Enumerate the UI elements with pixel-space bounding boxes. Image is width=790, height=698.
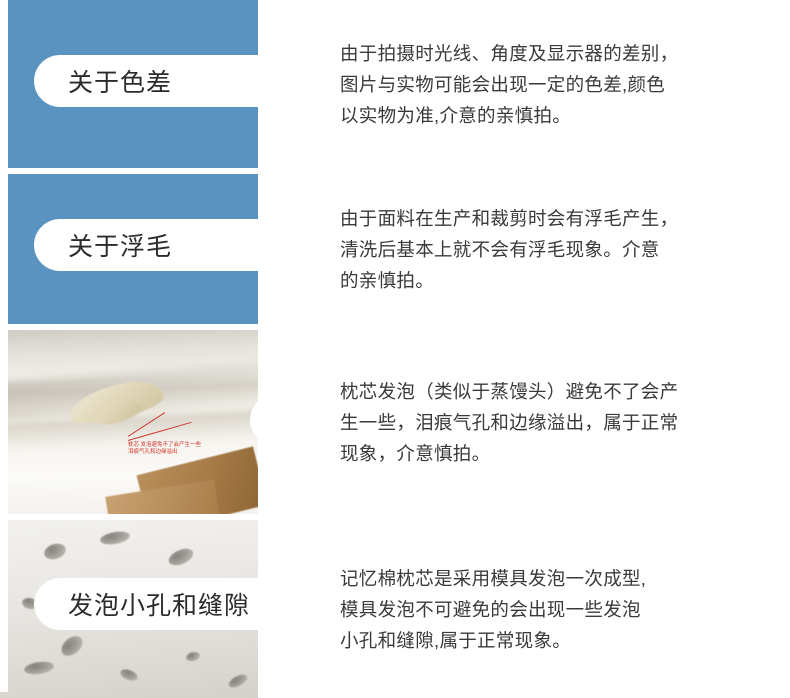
pore-mark — [99, 529, 131, 546]
section-3-body: 枕芯发泡（类似于蒸馒头）避免不了会产 生一些，泪痕气孔和边缘溢出，属于正常 现象… — [340, 376, 678, 469]
foam-photo-annotation: 枕芯 发泡避免不了会产生一些 泪痕气孔和边缘溢出 — [128, 442, 206, 456]
section-4-title-pill: 发泡小孔和缝隙 — [34, 578, 258, 630]
section-3-left-panel: 枕芯 发泡避免不了会产生一些 泪痕气孔和边缘溢出 — [0, 330, 258, 514]
section-3-right-panel: 枕芯发泡（类似于蒸馒头）避免不了会产 生一些，泪痕气孔和边缘溢出，属于正常 现象… — [258, 330, 790, 514]
section-foam-pores-gaps: 发泡小孔和缝隙 记忆棉枕芯是采用模具发泡一次成型, 模具发泡不可避免的会出现一些… — [0, 520, 790, 698]
section-foam-overflow: 枕芯 发泡避免不了会产生一些 泪痕气孔和边缘溢出 枕芯发泡（类似于蒸馒头）避免不… — [0, 330, 790, 514]
pore-mark — [227, 672, 249, 690]
pore-mark — [58, 632, 87, 660]
section-1-title: 关于色差 — [68, 63, 172, 99]
section-4-title: 发泡小孔和缝隙 — [68, 586, 250, 622]
pore-mark — [42, 541, 68, 562]
section-color-difference: 关于色差 由于拍摄时光线、角度及显示器的差别， 图片与实物可能会出现一定的色差,… — [0, 0, 790, 168]
section-1-body: 由于拍摄时光线、角度及显示器的差别， 图片与实物可能会出现一定的色差,颜色 以实… — [340, 38, 678, 131]
section-1-title-pill: 关于色差 — [34, 55, 258, 107]
section-2-left-panel: 关于浮毛 — [0, 174, 258, 324]
section-2-title-pill: 关于浮毛 — [34, 219, 258, 271]
pore-mark — [119, 667, 139, 683]
product-detail-page: 关于色差 由于拍摄时光线、角度及显示器的差别， 图片与实物可能会出现一定的色差,… — [0, 0, 790, 692]
pore-mark — [23, 660, 54, 676]
foam-overflow-photo: 枕芯 发泡避免不了会产生一些 泪痕气孔和边缘溢出 — [0, 330, 258, 514]
section-floating-lint: 关于浮毛 由于面料在生产和裁剪时会有浮毛产生， 清洗后基本上就不会有浮毛现象。介… — [0, 174, 790, 324]
section-2-right-panel: 由于面料在生产和裁剪时会有浮毛产生， 清洗后基本上就不会有浮毛现象。介意 的亲慎… — [258, 174, 790, 324]
pore-mark — [166, 545, 195, 568]
section-1-left-panel: 关于色差 — [0, 0, 258, 168]
left-white-margin — [0, 0, 8, 692]
section-4-body: 记忆棉枕芯是采用模具发泡一次成型, 模具发泡不可避免的会出现一些发泡 小孔和缝隙… — [340, 563, 646, 656]
section-2-title: 关于浮毛 — [68, 227, 172, 263]
section-1-right-panel: 由于拍摄时光线、角度及显示器的差别， 图片与实物可能会出现一定的色差,颜色 以实… — [258, 0, 790, 168]
section-4-left-panel: 发泡小孔和缝隙 — [0, 520, 258, 698]
pore-mark — [185, 650, 201, 662]
section-2-body: 由于面料在生产和裁剪时会有浮毛产生， 清洗后基本上就不会有浮毛现象。介意 的亲慎… — [340, 203, 678, 296]
section-4-right-panel: 记忆棉枕芯是采用模具发泡一次成型, 模具发泡不可避免的会出现一些发泡 小孔和缝隙… — [258, 520, 790, 698]
